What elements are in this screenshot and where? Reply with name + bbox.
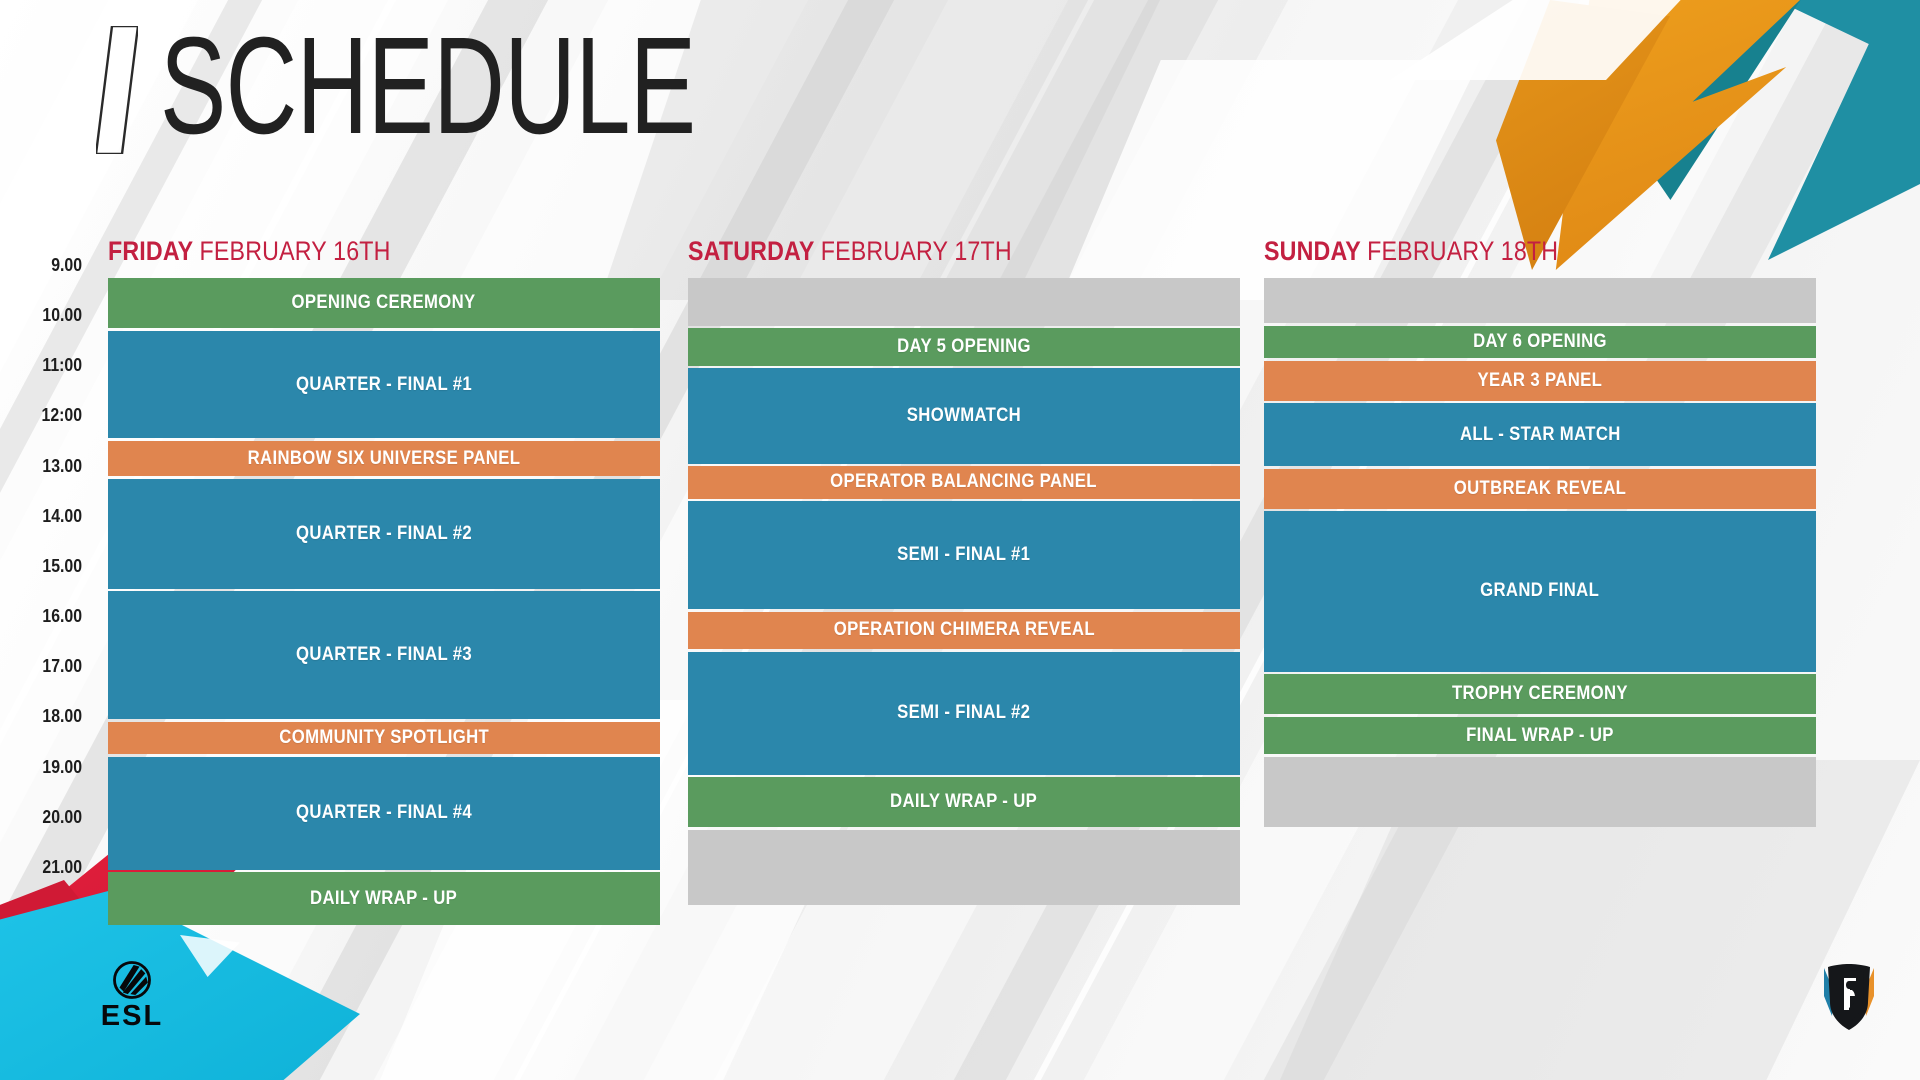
schedule-block[interactable]: YEAR 3 PANEL bbox=[1264, 361, 1816, 401]
schedule-block-label: OPERATION CHIMERA REVEAL bbox=[833, 619, 1094, 641]
day-column-header: SUNDAY FEBRUARY 18TH bbox=[1264, 236, 1558, 267]
schedule-empty-slot bbox=[1264, 757, 1816, 827]
schedule-block-label: SHOWMATCH bbox=[907, 405, 1021, 427]
schedule-block[interactable]: DAILY WRAP - UP bbox=[688, 777, 1240, 827]
schedule-block-label: DAILY WRAP - UP bbox=[890, 791, 1037, 813]
schedule-empty-slot bbox=[688, 278, 1240, 326]
schedule-block[interactable]: RAINBOW SIX UNIVERSE PANEL bbox=[108, 441, 660, 476]
schedule-block[interactable]: SHOWMATCH bbox=[688, 368, 1240, 463]
esl-circle-icon bbox=[112, 960, 152, 1000]
schedule-block[interactable]: OPERATION CHIMERA REVEAL bbox=[688, 612, 1240, 650]
schedule-block[interactable]: OUTBREAK REVEAL bbox=[1264, 469, 1816, 509]
schedule-block[interactable]: FINAL WRAP - UP bbox=[1264, 717, 1816, 755]
time-tick-label: 21.00 bbox=[42, 857, 82, 878]
day-date: FEBRUARY 16TH bbox=[200, 236, 391, 266]
schedule-block-label: RAINBOW SIX UNIVERSE PANEL bbox=[248, 448, 521, 470]
esl-logo: ESL bbox=[84, 960, 180, 1031]
schedule-block-label: DAY 6 OPENING bbox=[1473, 331, 1607, 353]
schedule-block[interactable]: QUARTER - FINAL #3 bbox=[108, 591, 660, 719]
day-name: SUNDAY bbox=[1264, 236, 1367, 266]
schedule-block[interactable]: GRAND FINAL bbox=[1264, 511, 1816, 671]
time-tick-label: 11:00 bbox=[42, 355, 82, 376]
time-tick-label: 13.00 bbox=[42, 456, 82, 477]
schedule-block-label: OPERATOR BALANCING PANEL bbox=[831, 471, 1098, 493]
schedule-block-label: YEAR 3 PANEL bbox=[1478, 370, 1603, 392]
schedule-block-label: DAY 5 OPENING bbox=[897, 336, 1031, 358]
schedule-block[interactable]: DAY 6 OPENING bbox=[1264, 326, 1816, 359]
day-date: FEBRUARY 18TH bbox=[1367, 236, 1558, 266]
schedule-block[interactable]: DAY 5 OPENING bbox=[688, 328, 1240, 366]
day-name: FRIDAY bbox=[108, 236, 200, 266]
schedule-empty-slot bbox=[688, 830, 1240, 905]
schedule-block-label: OUTBREAK REVEAL bbox=[1454, 478, 1626, 500]
time-tick-label: 16.00 bbox=[42, 606, 82, 627]
time-tick-label: 15.00 bbox=[42, 556, 82, 577]
schedule-block-label: OPENING CEREMONY bbox=[292, 292, 476, 314]
schedule-block-label: COMMUNITY SPOTLIGHT bbox=[279, 727, 489, 749]
schedule-block[interactable]: OPENING CEREMONY bbox=[108, 278, 660, 328]
schedule-block-label: DAILY WRAP - UP bbox=[310, 888, 457, 910]
schedule-block-label: SEMI - FINAL #1 bbox=[897, 544, 1030, 566]
rainbow-six-siege-logo bbox=[1820, 962, 1878, 1032]
schedule-block[interactable]: SEMI - FINAL #2 bbox=[688, 652, 1240, 775]
page-title-text: SCHEDULE bbox=[160, 22, 695, 150]
day-column-header: FRIDAY FEBRUARY 16TH bbox=[108, 236, 391, 267]
time-tick-label: 12:00 bbox=[41, 405, 82, 426]
day-column-header: SATURDAY FEBRUARY 17TH bbox=[688, 236, 1012, 267]
schedule-block-label: FINAL WRAP - UP bbox=[1466, 725, 1614, 747]
time-tick-label: 17.00 bbox=[42, 656, 82, 677]
schedule-block-label: QUARTER - FINAL #4 bbox=[296, 802, 472, 824]
slash-icon bbox=[96, 26, 138, 154]
schedule-block-label: GRAND FINAL bbox=[1480, 580, 1599, 602]
schedule-empty-slot bbox=[1264, 278, 1816, 323]
schedule-block-label: SEMI - FINAL #2 bbox=[897, 702, 1030, 724]
schedule-block[interactable]: DAILY WRAP - UP bbox=[108, 872, 660, 925]
time-tick-label: 9.00 bbox=[51, 255, 82, 276]
schedule-block[interactable]: TROPHY CEREMONY bbox=[1264, 674, 1816, 714]
esl-wordmark: ESL bbox=[101, 1002, 163, 1031]
schedule-block[interactable]: QUARTER - FINAL #1 bbox=[108, 331, 660, 439]
time-tick-label: 19.00 bbox=[42, 757, 82, 778]
schedule-block[interactable]: OPERATOR BALANCING PANEL bbox=[688, 466, 1240, 499]
day-date: FEBRUARY 17TH bbox=[821, 236, 1012, 266]
schedule-block[interactable]: QUARTER - FINAL #4 bbox=[108, 757, 660, 870]
schedule-block-label: QUARTER - FINAL #1 bbox=[296, 374, 472, 396]
schedule-block-label: TROPHY CEREMONY bbox=[1452, 683, 1628, 705]
schedule-block-label: QUARTER - FINAL #3 bbox=[296, 644, 472, 666]
day-name: SATURDAY bbox=[688, 236, 821, 266]
time-tick-label: 14.00 bbox=[42, 506, 82, 527]
schedule-block-label: ALL - STAR MATCH bbox=[1460, 424, 1621, 446]
schedule-block-label: QUARTER - FINAL #2 bbox=[296, 523, 472, 545]
time-tick-label: 18.00 bbox=[42, 706, 82, 727]
page-title: SCHEDULE bbox=[96, 22, 904, 154]
schedule-block[interactable]: ALL - STAR MATCH bbox=[1264, 403, 1816, 466]
schedule-block[interactable]: SEMI - FINAL #1 bbox=[688, 501, 1240, 609]
time-tick-label: 20.00 bbox=[42, 807, 82, 828]
time-tick-label: 10.00 bbox=[42, 305, 82, 326]
schedule-block[interactable]: COMMUNITY SPOTLIGHT bbox=[108, 722, 660, 755]
schedule-block[interactable]: QUARTER - FINAL #2 bbox=[108, 479, 660, 589]
